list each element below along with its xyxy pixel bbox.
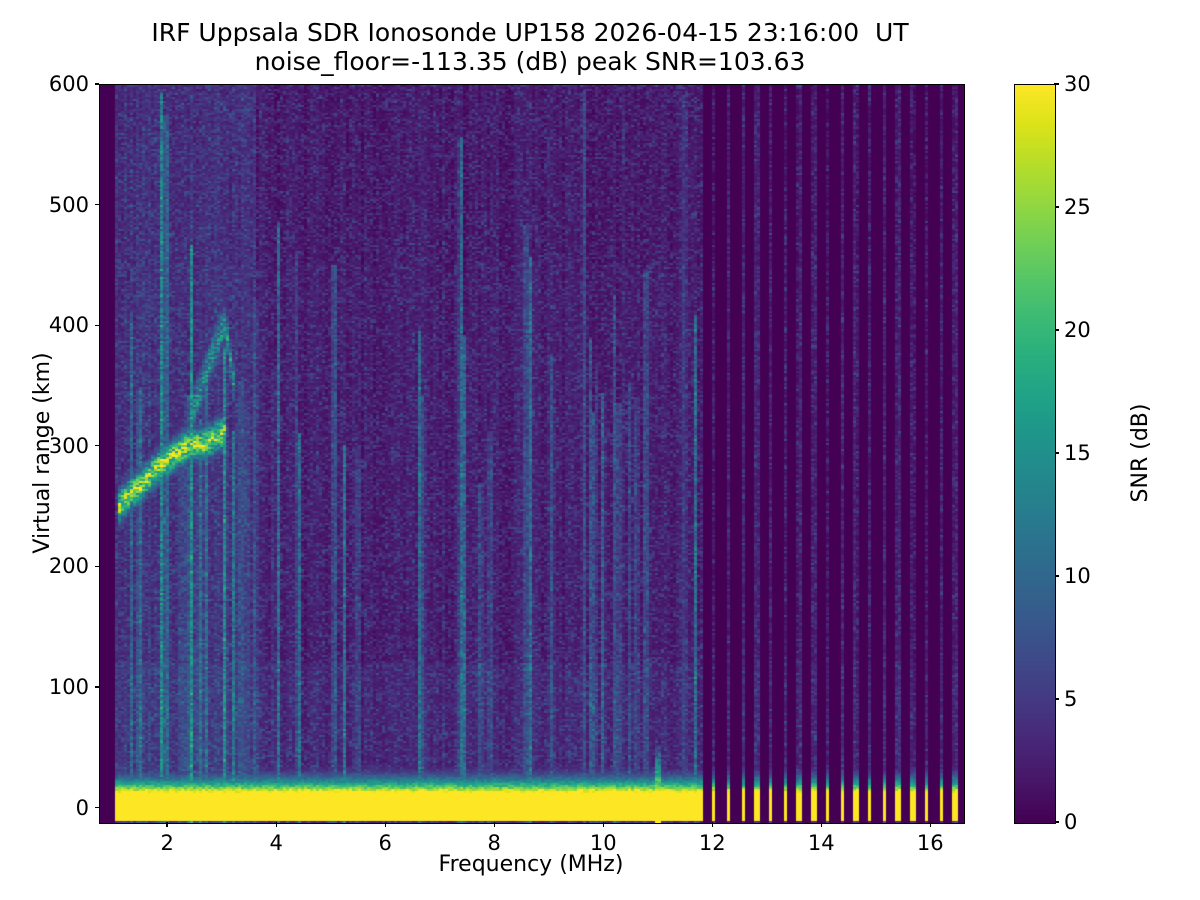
y-tick-mark [95, 325, 100, 326]
y-axis-label: Virtual range (km) [30, 84, 55, 822]
ionogram-heatmap[interactable] [100, 85, 964, 823]
y-tick-mark [95, 83, 100, 84]
colorbar-tick-label: 0 [1064, 810, 1114, 834]
colorbar-gradient [1015, 85, 1055, 823]
x-tick-mark [166, 822, 167, 827]
colorbar-label: SNR (dB) [1128, 84, 1153, 822]
y-tick-mark [95, 686, 100, 687]
x-tick-mark [276, 822, 277, 827]
x-tick-mark [494, 822, 495, 827]
y-tick-mark [95, 445, 100, 446]
chart-title-block: IRF Uppsala SDR Ionosonde UP158 2026-04-… [0, 18, 1060, 76]
x-tick-mark [930, 822, 931, 827]
chart-title: IRF Uppsala SDR Ionosonde UP158 2026-04-… [0, 18, 1060, 47]
colorbar-tick-label: 10 [1064, 564, 1114, 588]
x-axis-label: Frequency (MHz) [99, 852, 963, 877]
y-tick-mark [95, 204, 100, 205]
colorbar[interactable] [1014, 84, 1056, 824]
ionogram-plot-area[interactable] [99, 84, 965, 824]
colorbar-tick-label: 20 [1064, 318, 1114, 342]
ionogram-figure: IRF Uppsala SDR Ionosonde UP158 2026-04-… [0, 0, 1200, 900]
y-tick-mark [95, 566, 100, 567]
colorbar-tick-label: 5 [1064, 687, 1114, 711]
x-tick-mark [385, 822, 386, 827]
chart-subtitle: noise_floor=-113.35 (dB) peak SNR=103.63 [0, 47, 1060, 76]
x-tick-mark [712, 822, 713, 827]
y-tick-mark [95, 807, 100, 808]
colorbar-tick-label: 25 [1064, 195, 1114, 219]
colorbar-tick-label: 30 [1064, 72, 1114, 96]
colorbar-tick-label: 15 [1064, 441, 1114, 465]
x-tick-mark [821, 822, 822, 827]
x-tick-mark [603, 822, 604, 827]
